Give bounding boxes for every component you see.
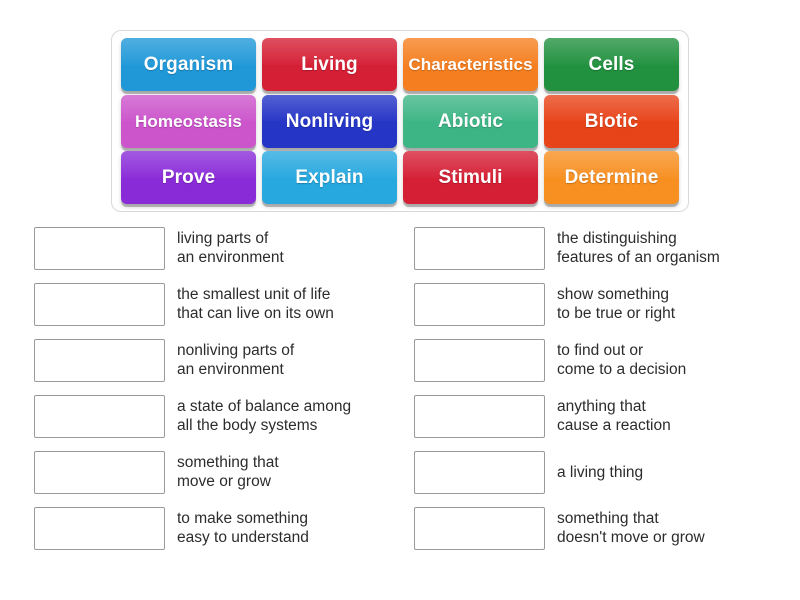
answer-column-left: living parts of an environment the small… [0,220,400,556]
word-tile-organism[interactable]: Organism [121,38,256,91]
definition-text: a state of balance among all the body sy… [177,397,351,435]
definition-text: the distinguishing features of an organi… [557,229,720,267]
answer-row: something that doesn't move or grow [414,500,800,556]
word-tile-label: Explain [291,168,367,187]
drop-slot[interactable] [414,507,545,550]
answer-area: living parts of an environment the small… [0,220,800,556]
word-tile-cells[interactable]: Cells [544,38,679,91]
word-tile-label: Characteristics [404,56,536,73]
answer-row: the smallest unit of life that can live … [34,276,400,332]
drop-slot[interactable] [34,227,165,270]
drop-slot[interactable] [414,283,545,326]
word-tile-label: Biotic [581,112,642,131]
word-tile-homeostasis[interactable]: Homeostasis [121,95,256,148]
answer-row: a state of balance among all the body sy… [34,388,400,444]
word-tile-nonliving[interactable]: Nonliving [262,95,397,148]
drop-slot[interactable] [34,395,165,438]
word-tile-stimuli[interactable]: Stimuli [403,151,538,204]
definition-text: something that doesn't move or grow [557,509,705,547]
word-tile-label: Living [297,55,362,74]
word-tile-abiotic[interactable]: Abiotic [403,95,538,148]
definition-text: something that move or grow [177,453,279,491]
match-up-activity: Organism Living Characteristics Cells Ho… [0,0,800,600]
word-tile-label: Prove [158,168,219,187]
drop-slot[interactable] [34,283,165,326]
definition-text: living parts of an environment [177,229,284,267]
answer-row: a living thing [414,444,800,500]
word-tile-determine[interactable]: Determine [544,151,679,204]
definition-text: show something to be true or right [557,285,675,323]
definition-text: nonliving parts of an environment [177,341,294,379]
answer-row: something that move or grow [34,444,400,500]
definition-text: a living thing [557,463,643,482]
drop-slot[interactable] [34,507,165,550]
answer-row: to find out or come to a decision [414,332,800,388]
answer-row: nonliving parts of an environment [34,332,400,388]
tile-row: Organism Living Characteristics Cells [118,38,682,91]
drop-slot[interactable] [414,227,545,270]
answer-row: to make something easy to understand [34,500,400,556]
definition-text: to find out or come to a decision [557,341,686,379]
word-tile-biotic[interactable]: Biotic [544,95,679,148]
drop-slot[interactable] [414,395,545,438]
word-tile-explain[interactable]: Explain [262,151,397,204]
answer-row: anything that cause a reaction [414,388,800,444]
word-tile-living[interactable]: Living [262,38,397,91]
word-tile-label: Nonliving [282,112,377,131]
answer-row: living parts of an environment [34,220,400,276]
definition-text: anything that cause a reaction [557,397,671,435]
definition-text: to make something easy to understand [177,509,309,547]
drop-slot[interactable] [414,339,545,382]
answer-column-right: the distinguishing features of an organi… [400,220,800,556]
word-tile-prove[interactable]: Prove [121,151,256,204]
word-tile-label: Cells [585,55,639,74]
answer-row: show something to be true or right [414,276,800,332]
word-tile-label: Homeostasis [131,113,246,130]
drop-slot[interactable] [414,451,545,494]
word-tile-label: Stimuli [434,168,506,187]
definition-text: the smallest unit of life that can live … [177,285,334,323]
drop-slot[interactable] [34,451,165,494]
tile-bank: Organism Living Characteristics Cells Ho… [111,30,689,212]
tile-row: Homeostasis Nonliving Abiotic Biotic [118,95,682,148]
tile-row: Prove Explain Stimuli Determine [118,151,682,204]
word-tile-label: Organism [140,55,238,74]
word-tile-label: Determine [561,168,663,187]
drop-slot[interactable] [34,339,165,382]
answer-row: the distinguishing features of an organi… [414,220,800,276]
word-tile-label: Abiotic [434,112,507,131]
word-tile-characteristics[interactable]: Characteristics [403,38,538,91]
